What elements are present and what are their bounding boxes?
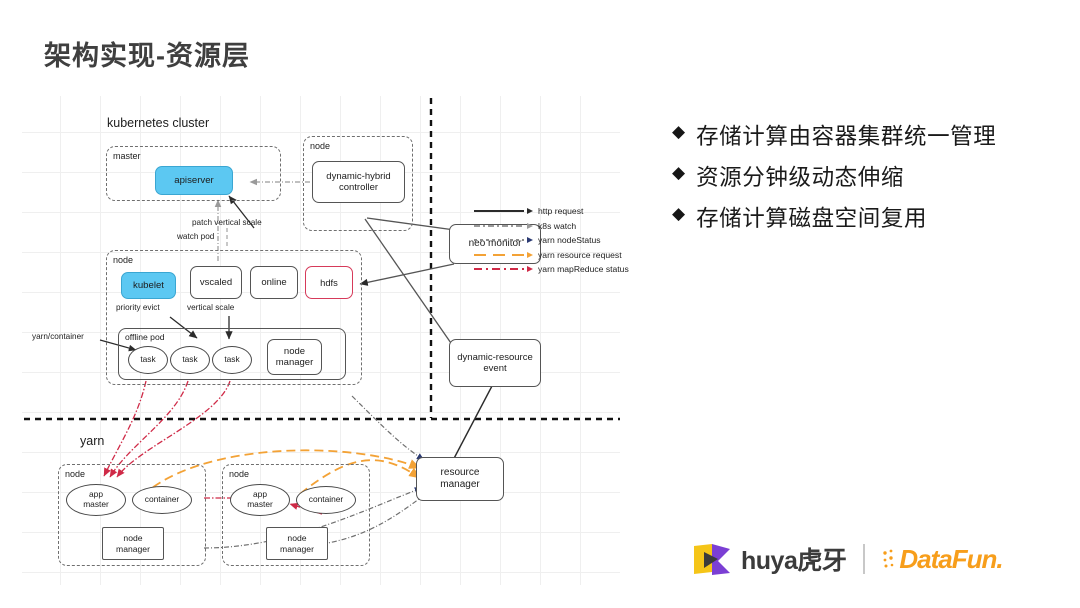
architecture-diagram: kubernetes cluster master apiserver node… [22, 96, 620, 585]
priority-evict-label: priority evict [116, 303, 160, 312]
vscaled-node[interactable]: vscaled [190, 266, 242, 299]
list-item: ◆ 资源分钟级动态伸缩 [672, 161, 1064, 195]
diamond-bullet-icon: ◆ [672, 120, 685, 145]
yarn-node-manager-node[interactable]: node manager [266, 527, 328, 560]
legend-item: yarn nodeStatus [474, 233, 629, 248]
k8s-cluster-label: kubernetes cluster [107, 116, 209, 130]
yarn-node-label: node [229, 469, 249, 479]
bullet-text: 存储计算由容器集群统一管理 [696, 120, 996, 154]
vertical-scale-label: vertical scale [187, 303, 234, 312]
master-label: master [113, 151, 141, 161]
diamond-bullet-icon: ◆ [672, 202, 685, 227]
legend-arrow-icon [527, 237, 533, 243]
legend-swatch-yarn-resource-request [474, 254, 524, 256]
yarn-node-manager-node[interactable]: node manager [102, 527, 164, 560]
bullet-text: 存储计算磁盘空间复用 [696, 202, 927, 236]
container-node[interactable]: container [132, 486, 192, 514]
huya-wordmark: huya虎牙 [741, 541, 846, 577]
online-node[interactable]: online [250, 266, 298, 299]
legend-label: yarn resource request [538, 250, 622, 260]
kubelet-node[interactable]: kubelet [121, 272, 176, 299]
yarn-container-label: yarn/container [32, 332, 84, 341]
legend-item: yarn resource request [474, 248, 629, 263]
diagram-legend: http request k8s watch yarn nodeStatus y… [474, 204, 629, 277]
diamond-bullet-icon: ◆ [672, 161, 685, 186]
list-item: ◆ 存储计算由容器集群统一管理 [672, 120, 1064, 154]
offline-pod-label: offline pod [125, 332, 165, 342]
task-node[interactable]: task [128, 346, 168, 374]
hdfs-node[interactable]: hdfs [305, 266, 353, 299]
legend-swatch-yarn-mapreduce-status [474, 268, 524, 270]
watch-pod-label: watch pod [177, 232, 214, 241]
slide-root: 架构实现-资源层 [0, 0, 1080, 608]
task-node[interactable]: task [212, 346, 252, 374]
datafun-wordmark: DataFun. [899, 544, 1002, 575]
page-title: 架构实现-资源层 [44, 34, 250, 73]
resource-manager-node[interactable]: resource manager [416, 457, 504, 501]
legend-item: k8s watch [474, 219, 629, 234]
legend-label: k8s watch [538, 221, 576, 231]
legend-label: yarn mapReduce status [538, 264, 629, 274]
legend-item: yarn mapReduce status [474, 262, 629, 277]
legend-arrow-icon [527, 223, 533, 229]
huya-mark-icon [692, 542, 734, 576]
bullet-text: 资源分钟级动态伸缩 [696, 161, 904, 195]
legend-arrow-icon [527, 266, 533, 272]
app-master-node[interactable]: app master [66, 484, 126, 516]
logo-divider [863, 544, 865, 574]
legend-swatch-k8s-watch [474, 225, 524, 227]
legend-swatch-http-request [474, 210, 524, 212]
logo-bar: huya虎牙 DataFun. [692, 541, 1003, 577]
legend-swatch-yarn-nodestatus [474, 239, 524, 241]
node-manager-node[interactable]: node manager [267, 339, 322, 375]
k8s-node-label: node [310, 141, 330, 151]
legend-item: http request [474, 204, 629, 219]
app-master-node[interactable]: app master [230, 484, 290, 516]
legend-label: http request [538, 206, 583, 216]
legend-label: yarn nodeStatus [538, 235, 601, 245]
patch-vertical-scale-label: patch vertical scale [192, 218, 262, 227]
apiserver-node[interactable]: apiserver [155, 166, 233, 195]
dynamic-resource-event-node[interactable]: dynamic-resource event [449, 339, 541, 387]
list-item: ◆ 存储计算磁盘空间复用 [672, 202, 1064, 236]
task-node[interactable]: task [170, 346, 210, 374]
container-node[interactable]: container [296, 486, 356, 514]
legend-arrow-icon [527, 252, 533, 258]
legend-arrow-icon [527, 208, 533, 214]
worker-node-label: node [113, 255, 133, 265]
yarn-node-label: node [65, 469, 85, 479]
yarn-label: yarn [80, 434, 104, 448]
dynamic-hybrid-controller-node[interactable]: dynamic-hybrid controller [312, 161, 405, 203]
datafun-dots-icon [882, 548, 898, 570]
bullet-list: ◆ 存储计算由容器集群统一管理 ◆ 资源分钟级动态伸缩 ◆ 存储计算磁盘空间复用 [672, 120, 1064, 244]
huya-logo: huya虎牙 [692, 541, 846, 577]
datafun-logo: DataFun. [882, 544, 1002, 575]
